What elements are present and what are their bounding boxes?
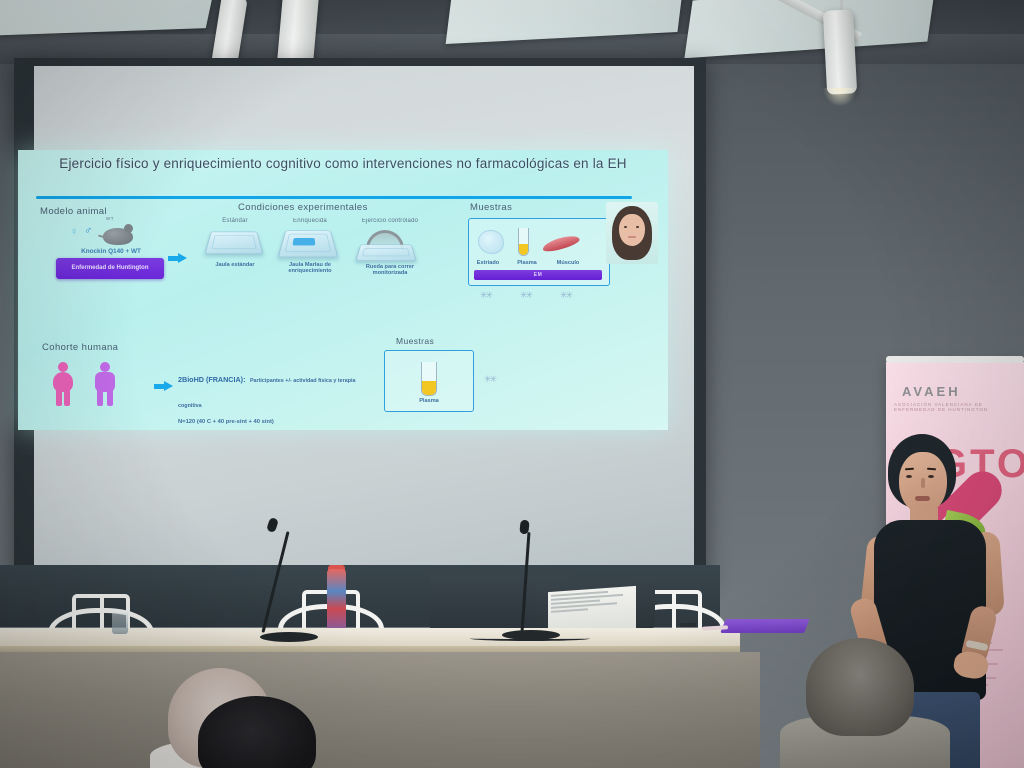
purple-folder[interactable] bbox=[720, 619, 810, 633]
person-male-icon bbox=[94, 362, 116, 406]
condition-label-standard: Estándar bbox=[204, 218, 266, 224]
genotype-micro-label: WT bbox=[106, 216, 114, 221]
banner-org-name: AVAEH bbox=[902, 384, 961, 399]
sample-label-plasma: Plasma bbox=[510, 260, 544, 266]
enriched-cage-icon bbox=[277, 230, 338, 257]
condition-caption-exercise: Rueda para correr monitorizada bbox=[348, 264, 432, 277]
section-heading-samples-animal: Muestras bbox=[470, 202, 512, 213]
flow-arrow-stem bbox=[168, 256, 178, 261]
female-symbol-icon: ♀ bbox=[70, 226, 78, 238]
track-light-icon bbox=[823, 9, 857, 94]
vesicle-cluster-icon: ✳✳ bbox=[480, 290, 494, 302]
pen[interactable] bbox=[680, 623, 696, 627]
section-heading-human-cohort: Cohorte humana bbox=[42, 342, 118, 353]
podium-desk-top bbox=[0, 628, 740, 646]
slide-title-underline bbox=[36, 196, 632, 199]
water-bottle[interactable] bbox=[327, 569, 346, 633]
sample-label-plasma-human: Plasma bbox=[408, 398, 450, 404]
flow-arrow-stem bbox=[154, 384, 164, 389]
condition-label-enriched: Enriquecida bbox=[276, 218, 344, 224]
plasma-tube-icon bbox=[518, 228, 529, 256]
light-glow bbox=[823, 88, 857, 106]
disease-badge: Enfermedad de Huntington bbox=[56, 258, 164, 279]
section-heading-conditions: Condiciones experimentales bbox=[238, 202, 368, 213]
sample-label-striatum: Estriado bbox=[470, 260, 506, 266]
sample-label-muscle: Músculo bbox=[548, 260, 588, 266]
audience-checked-shirt-head bbox=[806, 638, 914, 736]
standard-cage-icon bbox=[204, 232, 263, 255]
presentation-slide: Ejercicio físico y enriquecimiento cogni… bbox=[18, 150, 668, 430]
mouse-ear-icon bbox=[124, 224, 133, 233]
condition-label-exercise: Ejercicio controlado bbox=[348, 218, 432, 224]
vesicle-cluster-icon: ✳✳ bbox=[484, 374, 498, 386]
section-heading-samples-human: Muestras bbox=[396, 336, 434, 346]
banner-org-subtitle: ASOCIACIÓN VALENCIANA DE ENFERMEDAD DE H… bbox=[894, 402, 1022, 412]
section-heading-animal-model: Modelo animal bbox=[40, 206, 107, 217]
male-symbol-icon: ♂ bbox=[84, 225, 92, 237]
researcher-portrait bbox=[606, 202, 658, 264]
banner-top-rail bbox=[886, 356, 1024, 363]
genotype-label: Knockin Q140 + WT bbox=[56, 248, 166, 255]
condition-caption-enriched: Jaula Marlau de enriquecimiento bbox=[270, 262, 350, 275]
study-name: 2BioHD (FRANCIA): bbox=[178, 375, 245, 384]
drinking-glass[interactable] bbox=[112, 612, 128, 634]
conference-room-scene: Ejercicio físico y enriquecimiento cogni… bbox=[0, 0, 1024, 768]
plasma-tube-icon bbox=[421, 362, 437, 396]
striatum-icon bbox=[478, 230, 504, 254]
flow-arrow-icon bbox=[178, 253, 187, 263]
wheel-cage-icon bbox=[355, 244, 417, 261]
condition-caption-standard: Jaula estándar bbox=[200, 262, 270, 268]
flow-arrow-icon bbox=[164, 381, 173, 391]
person-female-icon bbox=[52, 362, 74, 406]
study-sample-size: N=120 (40 C + 40 pre-sint + 40 sint) bbox=[178, 418, 358, 427]
vesicle-cluster-icon: ✳✳ bbox=[520, 290, 534, 302]
cable bbox=[470, 636, 590, 641]
slide-title: Ejercicio físico y enriquecimiento cogni… bbox=[30, 156, 656, 173]
em-badge: EM bbox=[474, 270, 602, 280]
stage-front-wall bbox=[0, 652, 760, 768]
vesicle-cluster-icon: ✳✳ bbox=[560, 290, 574, 302]
